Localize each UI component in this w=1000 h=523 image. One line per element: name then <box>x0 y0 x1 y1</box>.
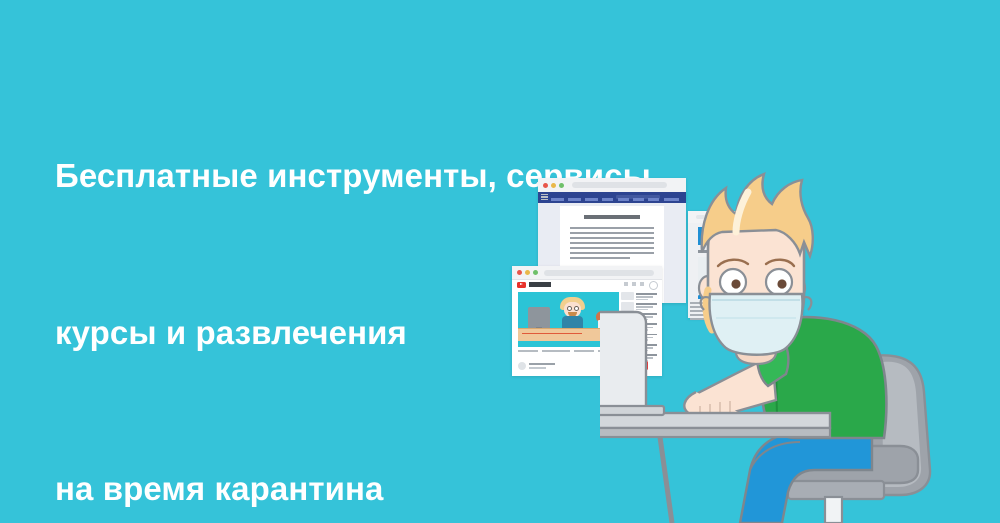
laptop <box>600 312 664 415</box>
play-button-icon <box>517 282 526 289</box>
text-line <box>574 350 594 352</box>
channel-avatar[interactable] <box>518 362 526 370</box>
text-line <box>518 350 538 352</box>
monitor-shape <box>528 307 550 329</box>
desk-scene-illustration <box>600 170 1000 523</box>
text-line <box>542 350 570 352</box>
maximize-icon[interactable] <box>559 183 564 188</box>
banner-canvas: Бесплатные инструменты, сервисы, курсы и… <box>0 0 1000 523</box>
eye-shape <box>574 306 579 311</box>
maximize-icon[interactable] <box>533 270 538 275</box>
video-site-logo[interactable] <box>517 281 563 289</box>
desk-scene-svg <box>600 170 1000 523</box>
menu-icon[interactable] <box>541 194 548 200</box>
nav-item[interactable] <box>551 198 564 201</box>
channel-name <box>529 363 555 365</box>
head <box>699 174 813 364</box>
close-icon[interactable] <box>543 183 548 188</box>
nav-item[interactable] <box>568 198 581 201</box>
close-icon[interactable] <box>517 270 522 275</box>
logo-wordmark <box>529 282 551 287</box>
eye-shape <box>567 306 572 311</box>
progress-bar[interactable] <box>522 333 582 335</box>
subscriber-count <box>529 367 546 369</box>
minimize-icon[interactable] <box>551 183 556 188</box>
video-character <box>560 297 585 330</box>
minimize-icon[interactable] <box>525 270 530 275</box>
nav-item[interactable] <box>585 198 598 201</box>
